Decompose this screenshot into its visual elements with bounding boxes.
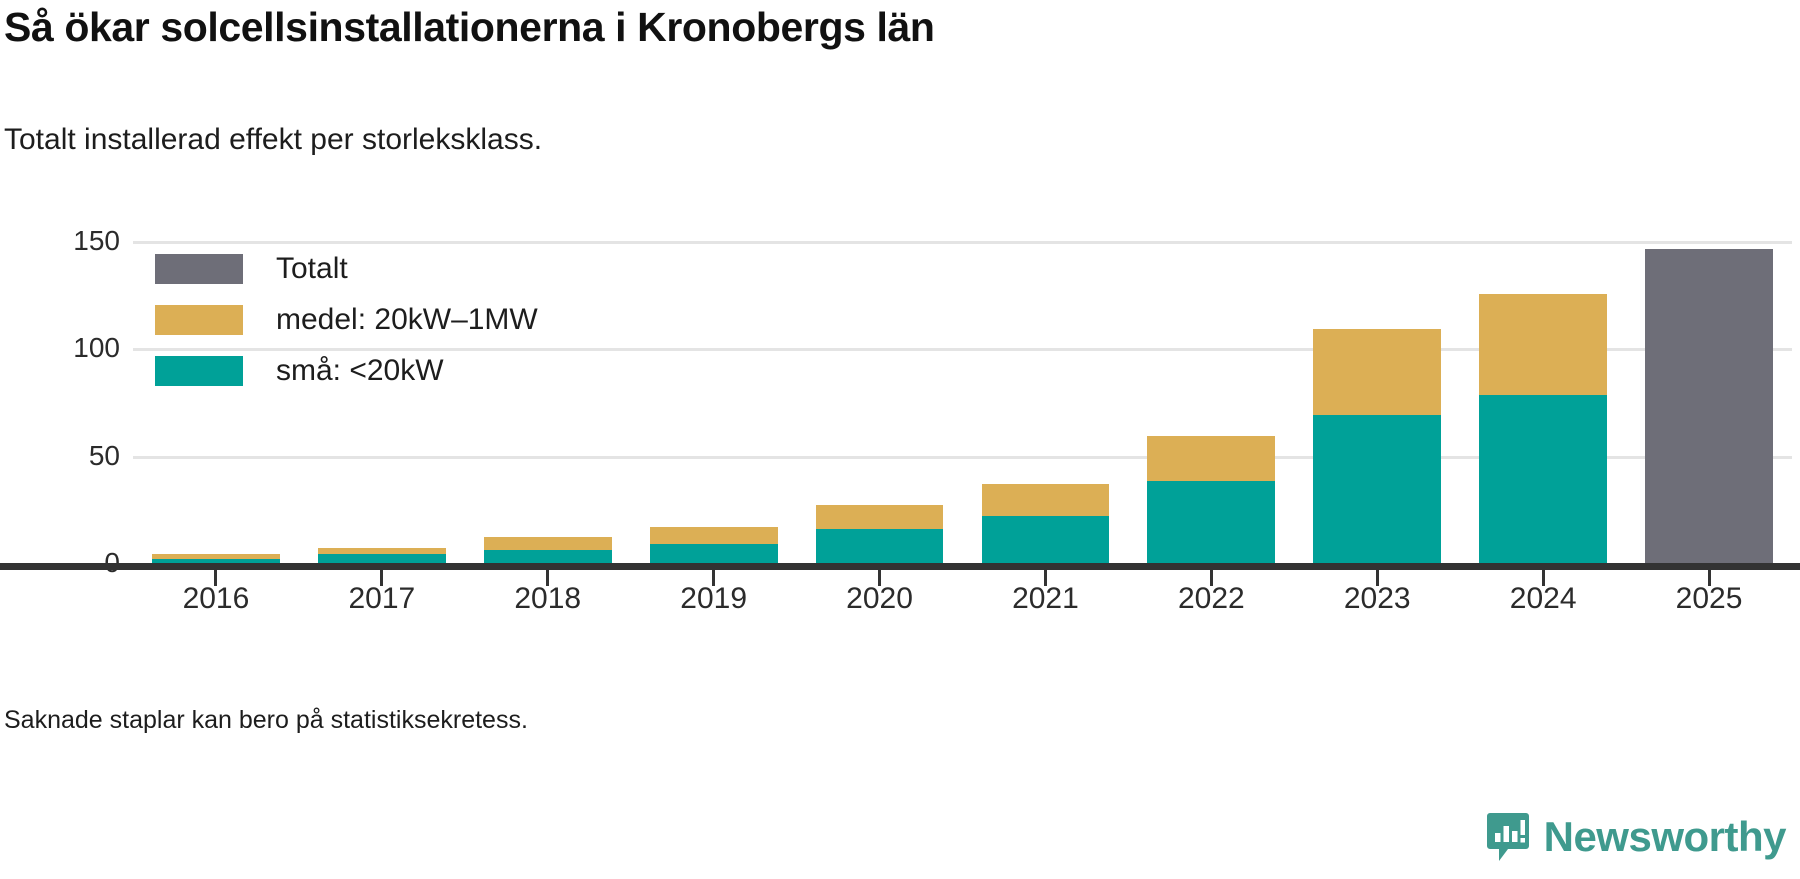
bar-segment-small[interactable] xyxy=(1313,415,1441,563)
bar-group[interactable] xyxy=(1479,294,1607,563)
bar-group[interactable] xyxy=(1645,249,1773,563)
logo-wordmark: Newsworthy xyxy=(1544,813,1786,861)
bar-segment-medium[interactable] xyxy=(650,527,778,544)
x-tick-label: 2025 xyxy=(1676,582,1743,616)
x-tick-label: 2022 xyxy=(1178,582,1245,616)
legend-item-medium[interactable]: medel: 20kW–1MW xyxy=(155,295,538,345)
x-axis-labels: 2016201720182019202020212022202320242025 xyxy=(133,582,1792,628)
bar-chart-bubble-icon xyxy=(1486,812,1530,862)
bar-segment-small[interactable] xyxy=(1479,395,1607,563)
x-tick-label: 2018 xyxy=(514,582,581,616)
x-axis-line xyxy=(0,563,1800,570)
legend-item-small[interactable]: små: <20kW xyxy=(155,346,538,396)
bar-group[interactable] xyxy=(318,548,446,563)
bar-segment-total[interactable] xyxy=(1645,249,1773,563)
bar-segment-medium[interactable] xyxy=(816,505,944,529)
bar-segment-medium[interactable] xyxy=(1479,294,1607,395)
bar-segment-small[interactable] xyxy=(484,550,612,563)
x-tick-label: 2024 xyxy=(1510,582,1577,616)
bar-segment-medium[interactable] xyxy=(484,537,612,550)
x-tick-label: 2021 xyxy=(1012,582,1079,616)
x-tick-label: 2016 xyxy=(183,582,250,616)
bar-segment-medium[interactable] xyxy=(1313,329,1441,415)
bar-segment-small[interactable] xyxy=(816,529,944,563)
legend-swatch-total xyxy=(155,254,243,284)
legend-label: små: <20kW xyxy=(276,354,444,388)
chart-footnote: Saknade staplar kan bero på statistiksek… xyxy=(4,706,528,735)
chart-legend: Totaltmedel: 20kW–1MWsmå: <20kW xyxy=(155,244,538,397)
bar-segment-medium[interactable] xyxy=(1147,436,1275,481)
chart-page: Så ökar solcellsinstallationerna i Krono… xyxy=(0,0,1800,879)
bar-segment-medium[interactable] xyxy=(982,484,1110,516)
bar-segment-small[interactable] xyxy=(1147,481,1275,563)
bar-group[interactable] xyxy=(484,537,612,563)
bar-segment-small[interactable] xyxy=(318,554,446,563)
bar-group[interactable] xyxy=(1313,329,1441,563)
y-tick-label: 50 xyxy=(0,440,120,472)
bar-group[interactable] xyxy=(152,554,280,563)
x-tick-label: 2020 xyxy=(846,582,913,616)
page-title: Så ökar solcellsinstallationerna i Krono… xyxy=(4,4,935,51)
legend-item-total[interactable]: Totalt xyxy=(155,244,538,294)
legend-swatch-small xyxy=(155,356,243,386)
legend-label: Totalt xyxy=(276,252,348,286)
bar-group[interactable] xyxy=(982,484,1110,563)
x-tick-label: 2019 xyxy=(680,582,747,616)
y-axis: 050100150 xyxy=(0,230,120,570)
x-tick-label: 2023 xyxy=(1344,582,1411,616)
legend-swatch-medium xyxy=(155,305,243,335)
bar-group[interactable] xyxy=(816,505,944,563)
bar-group[interactable] xyxy=(650,527,778,564)
legend-label: medel: 20kW–1MW xyxy=(276,303,538,337)
y-tick-label: 100 xyxy=(0,332,120,364)
chart-plot-area: 050100150 201620172018201920202021202220… xyxy=(0,230,1800,650)
bar-group[interactable] xyxy=(1147,436,1275,563)
x-tick-label: 2017 xyxy=(348,582,415,616)
bar-segment-small[interactable] xyxy=(982,516,1110,563)
newsworthy-logo[interactable]: Newsworthy xyxy=(1486,812,1786,862)
bar-segment-small[interactable] xyxy=(650,544,778,563)
y-tick-label: 150 xyxy=(0,225,120,257)
chart-subtitle: Totalt installerad effekt per storlekskl… xyxy=(4,123,542,157)
